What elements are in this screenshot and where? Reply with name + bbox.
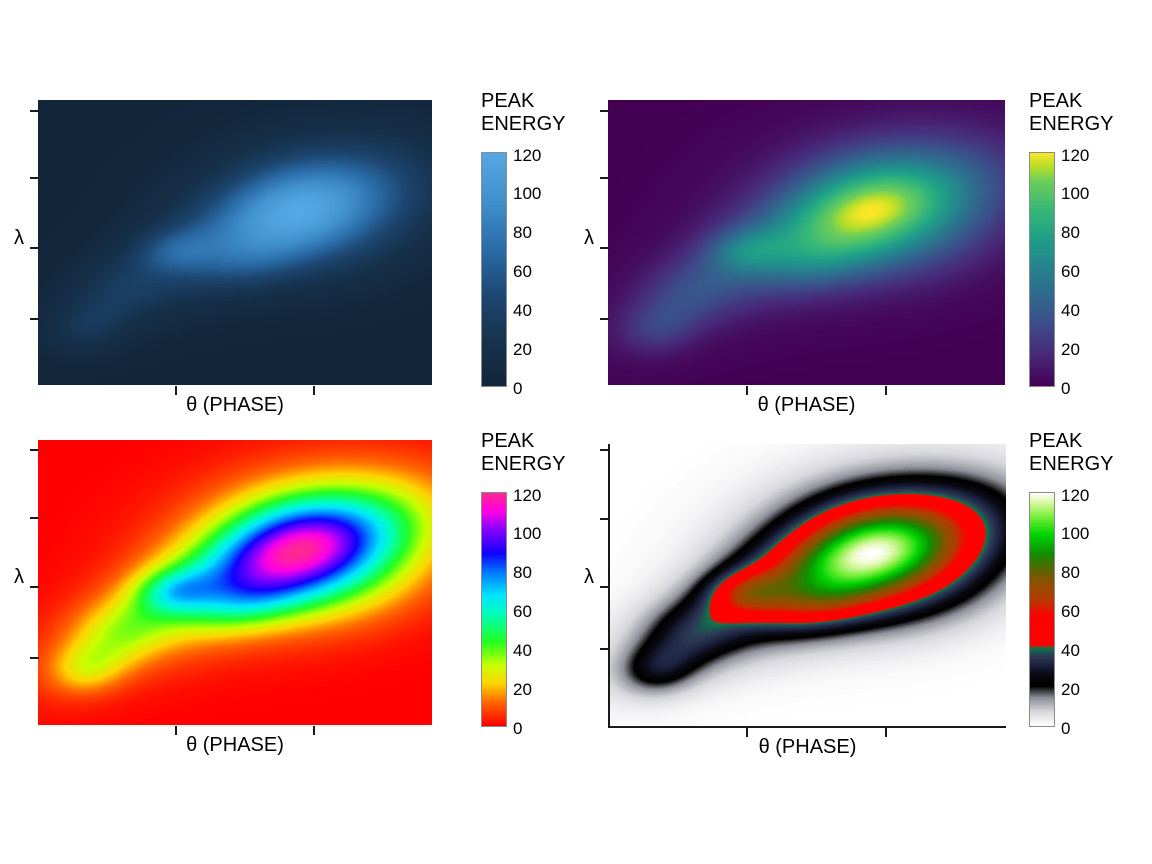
y-tick-3 — [600, 586, 609, 588]
y-tick-4 — [30, 318, 39, 320]
y-axis-label: λ — [584, 566, 594, 589]
y-tick-3 — [30, 586, 39, 588]
x-axis-label: θ (PHASE) — [608, 394, 1005, 417]
y-axis-label: λ — [14, 227, 24, 250]
colorbar-stern[interactable] — [1029, 492, 1055, 727]
colorbar-rainbow[interactable] — [481, 492, 507, 727]
panel-stern: λ θ (PHASE) PEAK ENERGY 120 100 80 60 40… — [576, 432, 1152, 864]
x-axis-label: θ (PHASE) — [609, 736, 1006, 759]
y-tick-2 — [600, 177, 609, 179]
heatmap-plot-area-viridis[interactable] — [608, 100, 1005, 385]
y-tick-4 — [600, 648, 609, 650]
colorbar-tick-40: 40 — [513, 641, 532, 661]
heatmap-plot-area-rainbow[interactable] — [38, 440, 432, 725]
colorbar-title-line1: PEAK — [481, 430, 534, 453]
panel-rainbow: λ θ (PHASE) PEAK ENERGY 120 100 80 60 40… — [0, 432, 576, 864]
colorbar-tick-100: 100 — [513, 524, 541, 544]
colorbar-tick-0: 0 — [513, 379, 522, 399]
colorbar-tick-0: 0 — [513, 719, 522, 739]
colorbar-tick-100: 100 — [1061, 184, 1089, 204]
y-tick-4 — [30, 657, 39, 659]
colorbar-tick-80: 80 — [1061, 223, 1080, 243]
y-tick-1 — [30, 449, 39, 451]
colorbar-tick-20: 20 — [1061, 340, 1080, 360]
colorbar-tick-80: 80 — [1061, 563, 1080, 583]
colorbar-tick-60: 60 — [1061, 602, 1080, 622]
colorbar-blues[interactable] — [481, 152, 507, 387]
y-tick-1 — [30, 110, 39, 112]
colorbar-tick-20: 20 — [513, 340, 532, 360]
colorbar-tick-120: 120 — [513, 146, 541, 166]
colorbar-tick-0: 0 — [1061, 719, 1070, 739]
y-axis-label: λ — [584, 227, 594, 250]
colorbar-title-line1: PEAK — [481, 90, 534, 113]
colorbar-tick-120: 120 — [1061, 486, 1089, 506]
colorbar-tick-100: 100 — [513, 184, 541, 204]
y-tick-3 — [30, 247, 39, 249]
panel-viridis: λ θ (PHASE) PEAK ENERGY 120 100 80 60 40… — [576, 0, 1152, 432]
y-tick-2 — [600, 518, 609, 520]
y-tick-2 — [30, 177, 39, 179]
heatmap-plot-area-blues[interactable] — [38, 100, 432, 385]
colorbar-tick-40: 40 — [513, 301, 532, 321]
colorbar-tick-120: 120 — [513, 486, 541, 506]
colorbar-title-line2: ENERGY — [481, 453, 565, 476]
colorbar-tick-100: 100 — [1061, 524, 1089, 544]
colorbar-tick-60: 60 — [513, 602, 532, 622]
y-tick-1 — [600, 110, 609, 112]
y-tick-1 — [600, 449, 609, 451]
colorbar-tick-120: 120 — [1061, 146, 1089, 166]
colorbar-tick-60: 60 — [513, 262, 532, 282]
colorbar-tick-20: 20 — [513, 680, 532, 700]
y-tick-3 — [600, 247, 609, 249]
x-axis-spine — [608, 726, 1006, 728]
colorbar-title-line2: ENERGY — [481, 113, 565, 136]
colorbar-tick-80: 80 — [513, 563, 532, 583]
colorbar-title-line1: PEAK — [1029, 430, 1082, 453]
panel-blues: λ θ (PHASE) PEAK ENERGY 120 100 80 60 40… — [0, 0, 576, 432]
y-tick-4 — [600, 318, 609, 320]
colorbar-tick-0: 0 — [1061, 379, 1070, 399]
colorbar-tick-60: 60 — [1061, 262, 1080, 282]
colorbar-viridis[interactable] — [1029, 152, 1055, 387]
colorbar-tick-20: 20 — [1061, 680, 1080, 700]
colorbar-title-line2: ENERGY — [1029, 113, 1113, 136]
colorbar-tick-40: 40 — [1061, 641, 1080, 661]
y-axis-label: λ — [14, 566, 24, 589]
y-tick-2 — [30, 517, 39, 519]
x-axis-label: θ (PHASE) — [38, 394, 432, 417]
colorbar-tick-80: 80 — [513, 223, 532, 243]
colorbar-title-line2: ENERGY — [1029, 453, 1113, 476]
colorbar-tick-40: 40 — [1061, 301, 1080, 321]
colorbar-title-line1: PEAK — [1029, 90, 1082, 113]
heatmap-plot-area-stern[interactable] — [609, 444, 1006, 725]
x-axis-label: θ (PHASE) — [38, 734, 432, 757]
